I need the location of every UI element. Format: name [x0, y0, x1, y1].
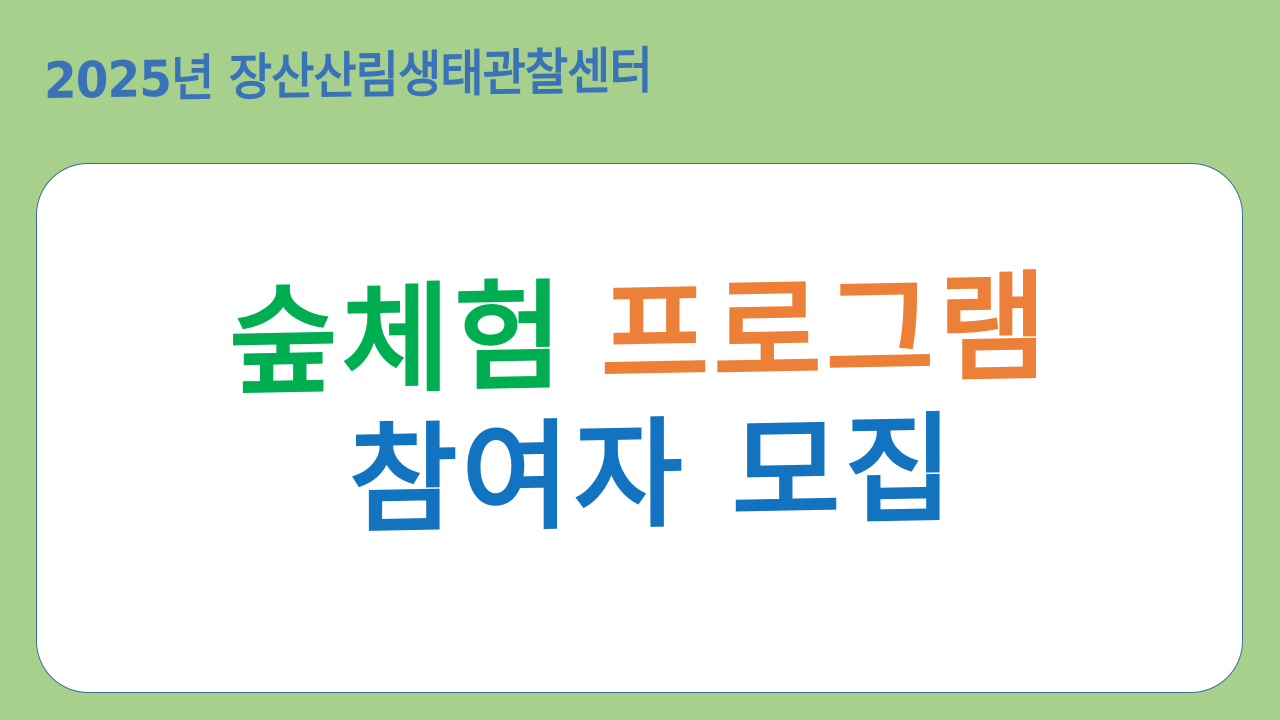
- headline-block: 숲체험 프로그램 참여자 모집: [37, 272, 1242, 538]
- header-title-text: 2025년 장산산림생태관찰센터: [44, 41, 652, 111]
- headline-segment-participant-recruitment: 참여자 모집: [349, 406, 957, 544]
- headline-line-one: 숲체험 프로그램: [229, 264, 1051, 406]
- poster-canvas: 2025년 장산산림생태관찰센터 숲체험 프로그램 참여자 모집: [0, 0, 1280, 720]
- headline-segment-forest-experience: 숲체험: [229, 273, 567, 405]
- header-title: 2025년 장산산림생태관찰센터: [44, 46, 1224, 116]
- headline-line-two: 참여자 모집: [323, 406, 957, 544]
- content-card: 숲체험 프로그램 참여자 모집: [36, 163, 1243, 693]
- headline-segment-program: 프로그램: [566, 264, 1050, 399]
